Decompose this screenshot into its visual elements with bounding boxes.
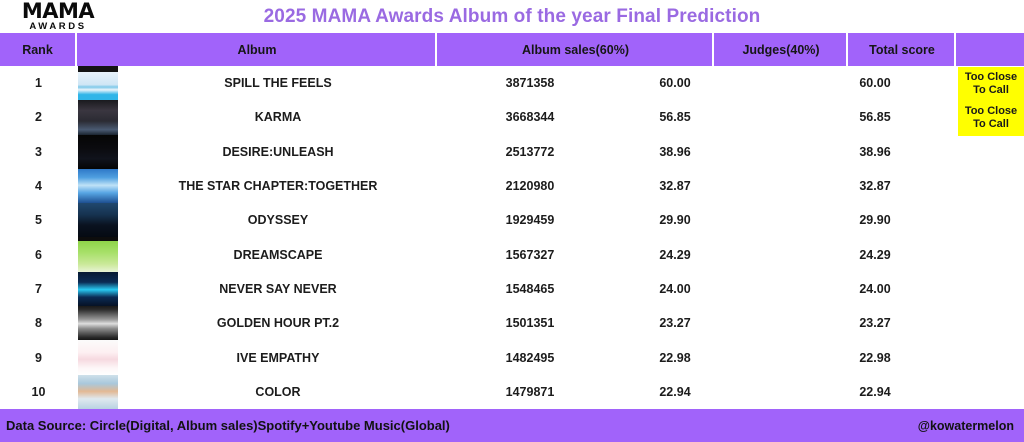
- album-cover-never-say-never: [78, 272, 118, 306]
- cell-album-art: [78, 135, 118, 169]
- table-row[interactable]: 8GOLDEN HOUR PT.2150135123.2723.27: [0, 306, 1024, 340]
- cell-album-name: KARMA: [119, 100, 437, 134]
- status-badge-line1: Too Close: [965, 71, 1017, 84]
- cell-judges-score: 29.90: [620, 203, 730, 237]
- table-header-row: RankAlbumAlbum sales(60%)Judges(40%)Tota…: [0, 33, 1024, 66]
- cell-album-art: [78, 100, 118, 134]
- prediction-table-page: MAMA AWARDS 2025 MAMA Awards Album of th…: [0, 0, 1024, 442]
- cell-total-score: 38.96: [790, 135, 960, 169]
- cell-album-name: NEVER SAY NEVER: [119, 272, 437, 306]
- cell-judges-score: 60.00: [620, 66, 730, 100]
- album-cover-odyssey: [78, 203, 118, 237]
- cell-rank: 9: [0, 340, 77, 374]
- page-title: 2025 MAMA Awards Album of the year Final…: [0, 0, 1024, 33]
- cell-rank: 5: [0, 203, 77, 237]
- cell-total-score: 29.90: [790, 203, 960, 237]
- album-cover-spill-the-feels: [78, 66, 118, 100]
- cell-total-score: 60.00: [790, 66, 960, 100]
- cell-album-art: [78, 203, 118, 237]
- cell-rank: 1: [0, 66, 77, 100]
- cell-album-art: [78, 237, 118, 271]
- cell-album-name: IVE EMPATHY: [119, 340, 437, 374]
- cell-album-art: [78, 306, 118, 340]
- cell-album-sales: 2513772: [440, 135, 620, 169]
- cell-album-name: DESIRE:UNLEASH: [119, 135, 437, 169]
- cell-rank: 4: [0, 169, 77, 203]
- album-cover-the-star-chapter-together: [78, 169, 118, 203]
- footer-bar: Data Source: Circle(Digital, Album sales…: [0, 409, 1024, 442]
- status-badge-line2: To Call: [973, 84, 1009, 97]
- cell-judges-score: 23.27: [620, 306, 730, 340]
- cell-judges-score: 38.96: [620, 135, 730, 169]
- column-header-judges[interactable]: Judges(40%): [716, 33, 848, 66]
- cell-album-name: ODYSSEY: [119, 203, 437, 237]
- album-cover-karma: [78, 100, 118, 134]
- cell-judges-score: 22.94: [620, 375, 730, 409]
- cell-rank: 10: [0, 375, 77, 409]
- column-header-rank[interactable]: Rank: [0, 33, 77, 66]
- cell-album-sales: 3668344: [440, 100, 620, 134]
- data-source-label: Data Source: Circle(Digital, Album sales…: [6, 409, 450, 442]
- cell-judges-score: 56.85: [620, 100, 730, 134]
- title-bar: MAMA AWARDS 2025 MAMA Awards Album of th…: [0, 0, 1024, 33]
- cell-total-score: 22.94: [790, 375, 960, 409]
- album-cover-dreamscape: [78, 237, 118, 271]
- cell-rank: 3: [0, 135, 77, 169]
- status-badge: Too CloseTo Call: [958, 101, 1024, 135]
- cell-album-sales: 1482495: [440, 340, 620, 374]
- album-cover-desire-unleash: [78, 135, 118, 169]
- cell-total-score: 24.00: [790, 272, 960, 306]
- column-header-total[interactable]: Total score: [850, 33, 956, 66]
- column-header-note[interactable]: [958, 33, 1024, 66]
- cell-album-art: [78, 169, 118, 203]
- table-row[interactable]: 5ODYSSEY192945929.9029.90: [0, 203, 1024, 237]
- cell-total-score: 24.29: [790, 237, 960, 271]
- cell-album-art: [78, 272, 118, 306]
- table-row[interactable]: 10COLOR147987122.9422.94: [0, 375, 1024, 409]
- album-cover-golden-hour-pt2: [78, 306, 118, 340]
- table-row[interactable]: 2KARMA366834456.8556.85: [0, 100, 1024, 134]
- cell-album-name: DREAMSCAPE: [119, 237, 437, 271]
- cell-album-sales: 2120980: [440, 169, 620, 203]
- cell-rank: 8: [0, 306, 77, 340]
- column-header-album[interactable]: Album: [79, 33, 437, 66]
- cell-album-sales: 1929459: [440, 203, 620, 237]
- prediction-table: RankAlbumAlbum sales(60%)Judges(40%)Tota…: [0, 33, 1024, 409]
- table-row[interactable]: 4THE STAR CHAPTER:TOGETHER212098032.8732…: [0, 169, 1024, 203]
- status-badge-line1: Too Close: [965, 105, 1017, 118]
- cell-judges-score: 32.87: [620, 169, 730, 203]
- cell-judges-score: 22.98: [620, 340, 730, 374]
- cell-album-art: [78, 375, 118, 409]
- table-row[interactable]: 9IVE EMPATHY148249522.9822.98: [0, 340, 1024, 374]
- cell-album-name: GOLDEN HOUR PT.2: [119, 306, 437, 340]
- cell-total-score: 23.27: [790, 306, 960, 340]
- album-cover-ive-empathy: [78, 340, 118, 374]
- cell-album-sales: 1567327: [440, 237, 620, 271]
- cell-total-score: 32.87: [790, 169, 960, 203]
- status-badge-line2: To Call: [973, 118, 1009, 131]
- album-cover-color: [78, 375, 118, 409]
- table-row[interactable]: 6DREAMSCAPE156732724.2924.29: [0, 237, 1024, 271]
- cell-album-sales: 1548465: [440, 272, 620, 306]
- author-handle: @kowatermelon: [918, 409, 1014, 442]
- cell-rank: 7: [0, 272, 77, 306]
- cell-album-name: COLOR: [119, 375, 437, 409]
- table-row[interactable]: 1SPILL THE FEELS387135860.0060.00: [0, 66, 1024, 100]
- cell-album-name: THE STAR CHAPTER:TOGETHER: [119, 169, 437, 203]
- cell-judges-score: 24.00: [620, 272, 730, 306]
- cell-album-art: [78, 66, 118, 100]
- table-row[interactable]: 7NEVER SAY NEVER154846524.0024.00: [0, 272, 1024, 306]
- cell-rank: 6: [0, 237, 77, 271]
- cell-album-name: SPILL THE FEELS: [119, 66, 437, 100]
- cell-total-score: 22.98: [790, 340, 960, 374]
- cell-total-score: 56.85: [790, 100, 960, 134]
- cell-album-art: [78, 340, 118, 374]
- cell-album-sales: 3871358: [440, 66, 620, 100]
- cell-judges-score: 24.29: [620, 237, 730, 271]
- column-header-sales[interactable]: Album sales(60%): [439, 33, 714, 66]
- table-row[interactable]: 3DESIRE:UNLEASH251377238.9638.96: [0, 135, 1024, 169]
- table-body: 1SPILL THE FEELS387135860.0060.002KARMA3…: [0, 66, 1024, 409]
- cell-album-sales: 1479871: [440, 375, 620, 409]
- cell-album-sales: 1501351: [440, 306, 620, 340]
- cell-rank: 2: [0, 100, 77, 134]
- status-badge: Too CloseTo Call: [958, 67, 1024, 101]
